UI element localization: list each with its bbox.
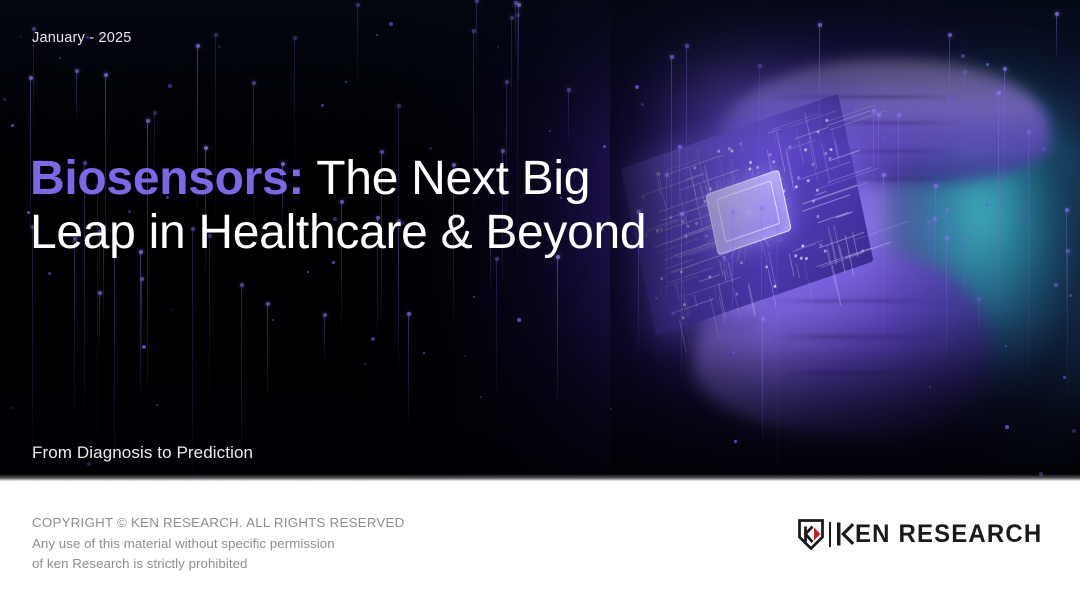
title-accent-word: Biosensors: (30, 152, 304, 205)
report-cover-slide: January - 2025 Biosensors: The Next Big … (0, 0, 1080, 608)
copyright-line-3: of ken Research is strictly prohibited (32, 554, 405, 575)
logo-letter-k-icon (837, 522, 854, 546)
copyright-line-1: COPYRIGHT © KEN RESEARCH. ALL RIGHTS RES… (32, 513, 405, 534)
publication-date: January - 2025 (32, 30, 132, 46)
page-title: Biosensors: The Next Big Leap in Healthc… (30, 152, 650, 260)
ken-research-logo[interactable]: EN RESEARCH (798, 517, 1050, 551)
footer-bar: COPYRIGHT © KEN RESEARCH. ALL RIGHTS RES… (0, 481, 1080, 608)
copyright-line-2: Any use of this material without specifi… (32, 534, 405, 555)
tagline: From Diagnosis to Prediction (32, 443, 253, 463)
hero-bottom-edge (0, 474, 1080, 481)
copyright-block: COPYRIGHT © KEN RESEARCH. ALL RIGHTS RES… (32, 513, 405, 575)
logo-text: EN RESEARCH (855, 522, 1042, 546)
shield-logo-icon (798, 519, 824, 550)
logo-divider-bar (829, 522, 831, 547)
hero-banner: January - 2025 Biosensors: The Next Big … (0, 0, 1080, 481)
logo-wordmark: EN RESEARCH (837, 522, 1050, 546)
